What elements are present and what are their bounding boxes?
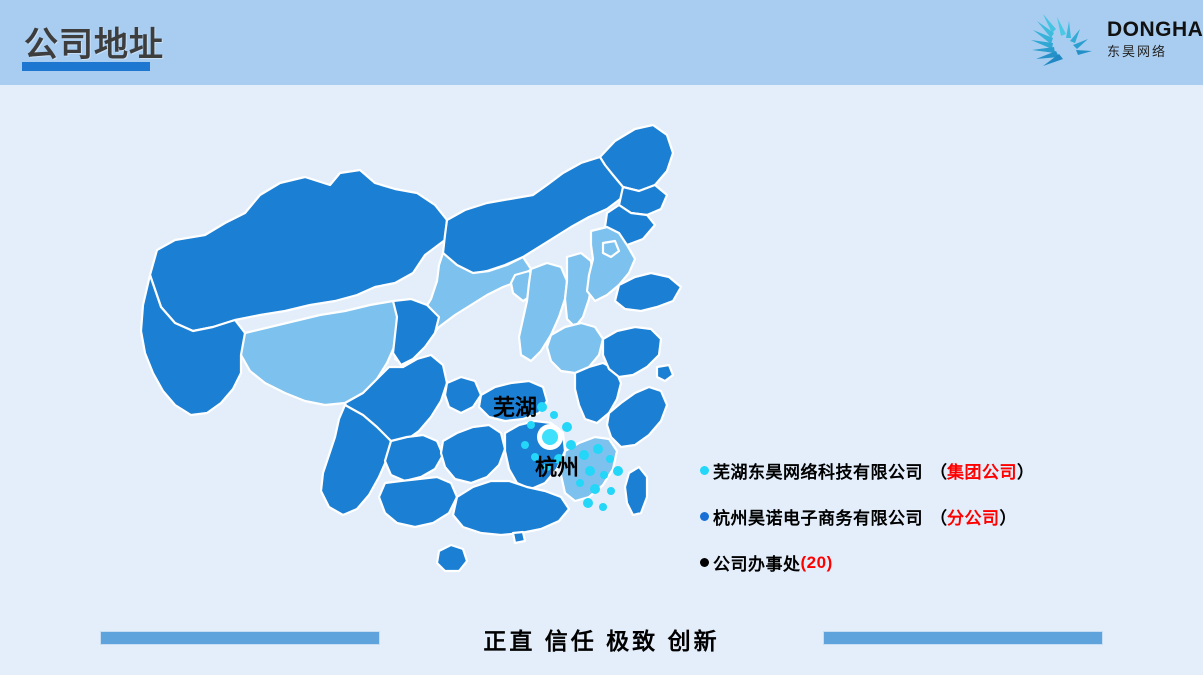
office-dot (537, 402, 547, 412)
slide-header: 公司地址 DONGHAO 东昊网络 (0, 0, 1203, 85)
office-dot (521, 441, 529, 449)
footer-bar-left (100, 631, 380, 645)
logo-subname: 东昊网络 (1107, 42, 1199, 62)
office-dot (583, 498, 593, 508)
office-dot (527, 421, 535, 429)
logo-name: DONGHAO (1107, 19, 1199, 41)
legend-accent-label: 分公司 (947, 504, 1000, 529)
office-dot (613, 466, 623, 476)
province-jiangsu (603, 327, 661, 377)
legend-bullet-cyan (700, 466, 709, 475)
company-logo: DONGHAO 东昊网络 (1021, 6, 1197, 78)
office-dot (550, 411, 558, 419)
province-chongqing (445, 377, 481, 413)
province-hongkong (513, 532, 525, 543)
legend-close-paren: ） (1017, 458, 1034, 483)
office-dot (562, 422, 572, 432)
legend-label: 杭州昊诺电子商务有限公司 (713, 504, 923, 529)
legend-label: 芜湖东昊网络科技有限公司 (713, 458, 923, 483)
legend-accent-label: (20) (801, 553, 833, 573)
province-taiwan (625, 467, 647, 515)
china-map-container: 芜湖 杭州 (95, 115, 705, 615)
office-dot (576, 479, 584, 487)
office-dot (607, 487, 615, 495)
legend-item-branch-company: 杭州昊诺电子商务有限公司 （ 分公司 ） (700, 504, 1120, 529)
office-dot (599, 503, 607, 511)
province-guangdong (453, 481, 569, 535)
legend-item-offices: 公司办事处 (20) (700, 550, 1120, 575)
office-dot (566, 440, 576, 450)
legend-bullet-black (700, 558, 709, 567)
province-hunan (441, 425, 505, 483)
title-underline (22, 62, 150, 71)
province-guizhou (385, 435, 443, 481)
office-dot (606, 455, 614, 463)
headquarters-marker (537, 424, 563, 450)
legend-open-paren: （ (930, 504, 947, 529)
legend-item-group-company: 芜湖东昊网络科技有限公司 （ 集团公司 ） (700, 458, 1120, 483)
legend-close-paren: ） (1000, 504, 1017, 529)
office-dot (579, 450, 589, 460)
city-label-wuhu: 芜湖 (493, 395, 537, 420)
legend-accent-label: 集团公司 (947, 458, 1017, 483)
legend-list: 芜湖东昊网络科技有限公司 （ 集团公司 ） 杭州昊诺电子商务有限公司 （ 分公司… (700, 458, 1120, 596)
logo-text-block: DONGHAO 东昊网络 (1107, 19, 1199, 62)
legend-label: 公司办事处 (713, 550, 801, 575)
donghao-fan-logo-icon (1023, 8, 1105, 74)
office-dot (590, 484, 600, 494)
province-shanghai (657, 365, 673, 381)
legend-open-paren: （ (930, 458, 947, 483)
footer-bar-right (823, 631, 1103, 645)
page-title: 公司地址 (24, 17, 164, 66)
city-label-hangzhou: 杭州 (535, 455, 579, 480)
office-dot (585, 466, 595, 476)
legend-bullet-blue (700, 512, 709, 521)
office-dot (600, 471, 608, 479)
china-map: 芜湖 杭州 (95, 115, 705, 615)
office-dot (593, 444, 603, 454)
province-guangxi (379, 477, 457, 527)
province-hainan (437, 545, 467, 571)
